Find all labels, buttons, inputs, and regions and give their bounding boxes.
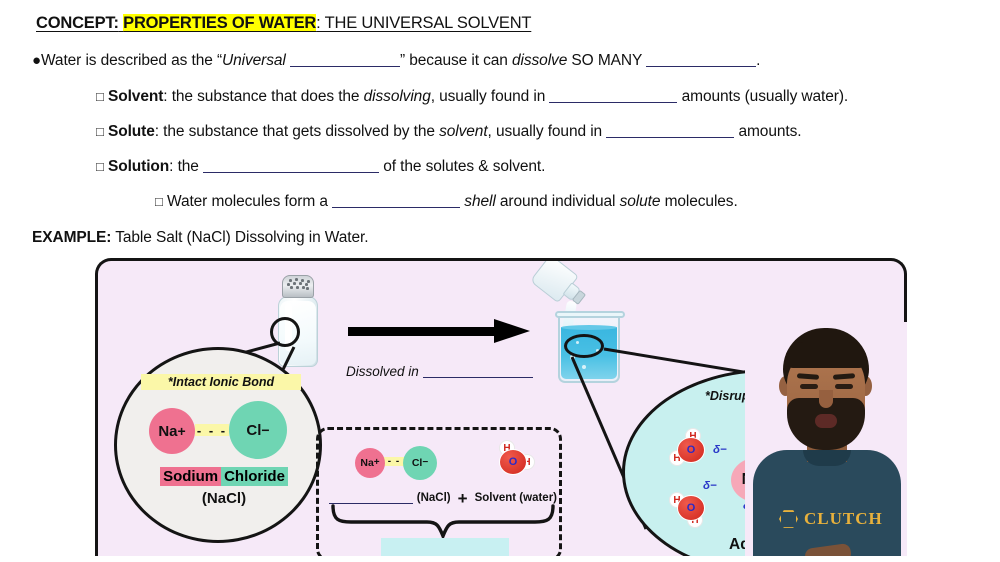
dissolved-in-blank[interactable] [423, 377, 533, 378]
square-bullet-icon: □ [96, 124, 104, 139]
bullet-line-4: □ Solution: the of the solutes & solvent… [96, 158, 545, 176]
instructor-hair-fringe [785, 342, 867, 368]
magnifier-circle-right-icon [564, 334, 604, 358]
text-segment: , usually found in [431, 88, 550, 105]
compound-formula: (NaCl) [139, 490, 309, 507]
text-segment: Water molecules form a [167, 193, 332, 210]
shaker-hole [306, 287, 309, 290]
line-2-text: Solvent: the substance that does the dis… [108, 88, 848, 105]
text-segment: : the [169, 158, 203, 175]
text-segment: Table Salt (NaCl) Dissolving in Water. [111, 229, 368, 246]
text-segment: dissolve [512, 52, 567, 69]
brand-name: CLUTCH [804, 509, 883, 529]
square-bullet-icon: □ [96, 159, 104, 174]
shaker-hole [305, 283, 308, 286]
equation-row: (NaCl) + Solvent (water) [329, 492, 557, 504]
water-molecule: H H O [669, 486, 713, 528]
title-suffix: : THE UNIVERSAL SOLVENT [316, 14, 531, 32]
page-title: CONCEPT: PROPERTIES OF WATER: THE UNIVER… [36, 14, 531, 33]
bullet-line-2: □ Solvent: the substance that does the d… [96, 88, 848, 106]
fill-in-blank[interactable] [203, 172, 379, 173]
instructor-webcam-overlay: CLUTCH [745, 322, 907, 562]
text-segment: amounts. [734, 123, 801, 140]
fill-in-blank[interactable] [646, 66, 756, 67]
instructor-eye-right [835, 384, 853, 389]
text-segment: around individual [496, 193, 620, 210]
hexagon-logo-icon [779, 510, 798, 529]
text-segment: , usually found in [488, 123, 607, 140]
text-segment: : the substance that gets dissolved by t… [155, 123, 439, 140]
shaker-hole [295, 278, 298, 281]
text-segment: Solution [108, 158, 169, 175]
plus-sign: + [458, 493, 468, 504]
shaker-hole [289, 279, 292, 282]
text-segment: EXAMPLE: [32, 229, 111, 246]
text-segment: Solute [108, 123, 155, 140]
solvent-label: Solvent (water) [475, 492, 557, 504]
bullet-line-5: □ Water molecules form a shell around in… [155, 193, 738, 211]
fill-in-blank[interactable] [606, 137, 734, 138]
fill-in-blank[interactable] [332, 207, 460, 208]
bullet-line-1: ●Water is described as the “Universal ” … [32, 52, 760, 70]
oxygen-atom: O [677, 495, 705, 521]
shaker-hole [290, 286, 293, 289]
magnifier-circle-left-icon [270, 317, 300, 347]
instructor-nose [819, 390, 833, 408]
shaker-hole [293, 282, 296, 285]
pouring-bottle-icon [526, 258, 592, 318]
compound-name: SodiumChloride [139, 468, 309, 485]
text-segment: molecules. [660, 193, 737, 210]
text-segment: Water is described as the “ [41, 52, 222, 69]
title-highlighted: PROPERTIES OF WATER [123, 14, 316, 32]
line-5-text: Water molecules form a shell around indi… [167, 193, 738, 210]
square-bullet-icon: □ [155, 194, 163, 209]
equation-box: - - Na+ Cl− H H O (NaCl) + Solvent (wate… [316, 427, 562, 558]
line-6-text: EXAMPLE: Table Salt (NaCl) Dissolving in… [32, 229, 368, 246]
equation-water-molecule: H H O [491, 440, 535, 482]
sodium-ion: Na+ [149, 408, 195, 454]
text-segment: solvent [439, 123, 487, 140]
chloride-label: Chloride [221, 467, 288, 486]
text-segment: SO MANY [567, 52, 646, 69]
notes-area: CONCEPT: PROPERTIES OF WATER: THE UNIVER… [0, 0, 1000, 258]
line-3-text: Solute: the substance that gets dissolve… [108, 123, 801, 140]
shaker-hole [302, 286, 305, 289]
shaker-hole [296, 286, 299, 289]
intact-bond-callout: *Intact Ionic Bond - - - Na+ Cl− SodiumC… [114, 347, 322, 543]
text-segment: dissolving [364, 88, 431, 105]
oxygen-atom: O [499, 449, 527, 475]
text-segment: ” because it can [400, 52, 512, 69]
chloride-symbol: Cl [246, 422, 261, 439]
equation-sodium-ion: Na+ [355, 448, 385, 478]
sodium-label: Sodium [160, 467, 221, 486]
square-bullet-icon: □ [96, 89, 104, 104]
process-arrow-icon [348, 319, 530, 343]
instructor-mouth [815, 414, 837, 428]
beaker-with-bottle-icon [522, 271, 630, 383]
curly-brace-icon [329, 504, 557, 540]
ionic-bond-dashes: - - - [195, 424, 229, 436]
solute-formula: (NaCl) [417, 492, 451, 504]
text-segment: shell [464, 193, 495, 210]
text-segment: : the substance that does the [163, 88, 363, 105]
partial-charge-label: δ− [713, 444, 727, 456]
line-1-text: Water is described as the “Universal ” b… [41, 52, 760, 69]
text-segment: . [756, 52, 760, 69]
fill-in-blank[interactable] [290, 66, 400, 67]
text-segment: of the solutes & solvent. [379, 158, 545, 175]
water-molecule: H H O [669, 428, 713, 470]
sodium-symbol: Na [360, 457, 373, 469]
solute-blank[interactable] [329, 493, 413, 504]
text-segment: Universal [222, 52, 286, 69]
example-line: EXAMPLE: Table Salt (NaCl) Dissolving in… [32, 229, 368, 247]
fill-in-blank[interactable] [549, 102, 677, 103]
shaker-hole [299, 282, 302, 285]
oxygen-atom: O [677, 437, 705, 463]
equation-bond-dashes: - - [383, 457, 405, 466]
dissolved-in-caption: Dissolved in [346, 364, 533, 379]
shirt-logo: CLUTCH [779, 508, 883, 530]
sodium-symbol: Na [158, 423, 177, 440]
bullet-dot-icon: ● [32, 52, 41, 69]
answer-highlight-box [381, 538, 509, 558]
chloride-ion: Cl− [229, 401, 287, 459]
text-segment: amounts (usually water). [677, 88, 848, 105]
intact-bond-note: *Intact Ionic Bond [141, 374, 301, 390]
line-4-text: Solution: the of the solutes & solvent. [108, 158, 545, 175]
instructor-eye-left [800, 384, 818, 389]
text-segment: solute [620, 193, 661, 210]
bottom-strip [0, 556, 1000, 562]
bullet-line-3: □ Solute: the substance that gets dissol… [96, 123, 801, 141]
shaker-hole [287, 283, 290, 286]
text-segment: Solvent [108, 88, 163, 105]
dissolved-in-label: Dissolved in [346, 364, 419, 379]
equation-chloride-ion: Cl− [403, 446, 437, 480]
slide-root: CONCEPT: PROPERTIES OF WATER: THE UNIVER… [0, 0, 1000, 562]
chloride-symbol: Cl [412, 457, 423, 469]
title-prefix: CONCEPT: [36, 14, 119, 32]
